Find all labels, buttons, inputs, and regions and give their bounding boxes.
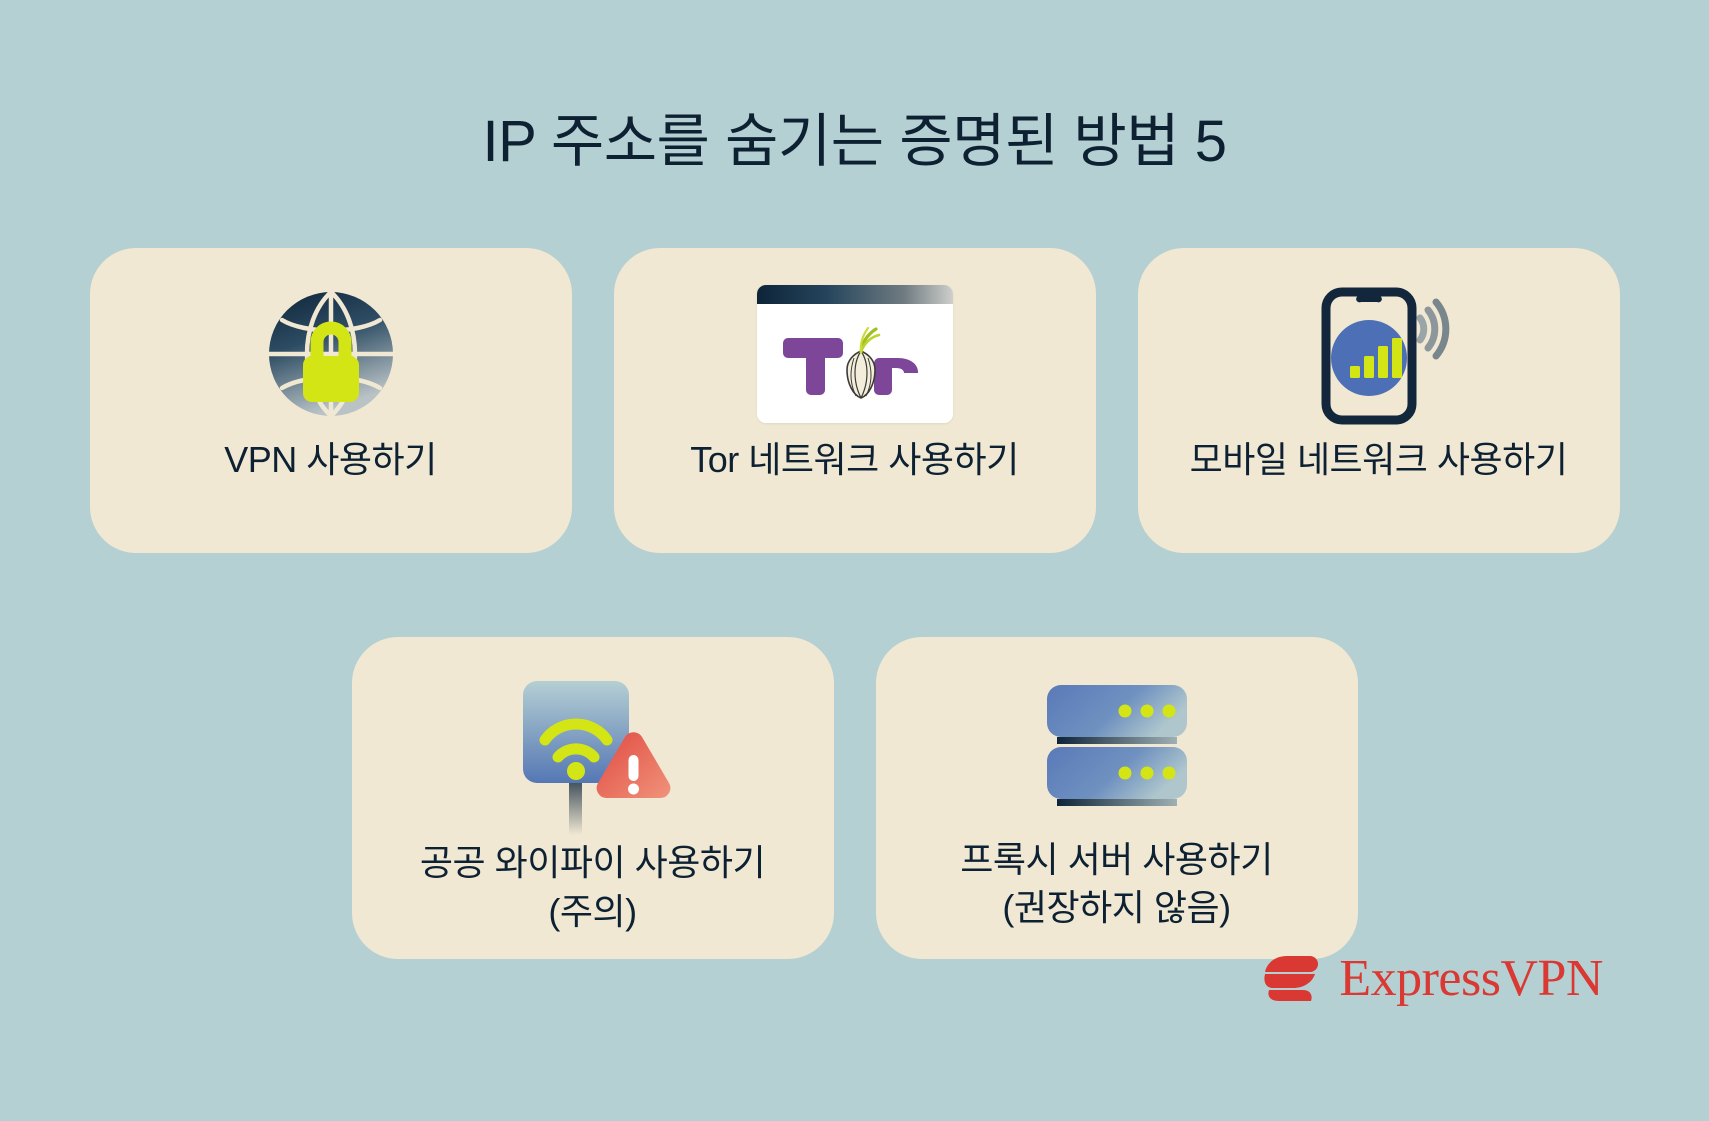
wifi-dot [567, 762, 585, 780]
signal-waves-icon [1420, 302, 1446, 356]
expressvpn-logo[interactable]: ExpressVPN [1257, 946, 1603, 1012]
server-leds-top [1119, 705, 1176, 718]
globe-lock-icon [255, 278, 407, 430]
wifi-warning-icon [505, 667, 680, 839]
card-label: Tor 네트워크 사용하기 [690, 436, 1018, 485]
page-title: IP 주소를 숨기는 증명된 방법 5 [0, 107, 1709, 177]
card-public-wifi[interactable]: 공공 와이파이 사용하기 (주의) [352, 637, 834, 959]
tor-logo-icon [780, 324, 930, 404]
browser-titlebar [757, 285, 953, 304]
server-shadow-bottom [1057, 799, 1177, 806]
icon-container [255, 278, 407, 430]
server-leds-bottom [1119, 767, 1176, 780]
icon-container [757, 278, 953, 430]
proxy-server-icon [1029, 667, 1204, 827]
card-row-top: VPN 사용하기 [0, 248, 1709, 553]
expressvpn-logo-mark [1257, 946, 1323, 1012]
tor-browser-icon [757, 285, 953, 423]
mobile-signal-icon [1294, 278, 1464, 430]
card-tor[interactable]: Tor 네트워크 사용하기 [614, 248, 1096, 553]
icon-container [1029, 667, 1204, 836]
icon-container [1294, 278, 1464, 430]
card-label: 공공 와이파이 사용하기 (주의) [420, 839, 765, 936]
infographic-page: IP 주소를 숨기는 증명된 방법 5 [0, 0, 1709, 1121]
icon-container [505, 667, 680, 839]
card-label: 모바일 네트워크 사용하기 [1190, 436, 1568, 485]
card-proxy[interactable]: 프록시 서버 사용하기 (권장하지 않음) [876, 637, 1358, 959]
card-mobile[interactable]: 모바일 네트워크 사용하기 [1138, 248, 1620, 553]
card-label: VPN 사용하기 [224, 436, 437, 485]
brand-name: ExpressVPN [1339, 953, 1603, 1005]
browser-viewport [757, 304, 953, 423]
server-shadow-top [1057, 737, 1177, 744]
card-label: 프록시 서버 사용하기 (권장하지 않음) [960, 836, 1273, 933]
card-row-bottom: 공공 와이파이 사용하기 (주의) [0, 637, 1709, 959]
card-vpn[interactable]: VPN 사용하기 [90, 248, 572, 553]
